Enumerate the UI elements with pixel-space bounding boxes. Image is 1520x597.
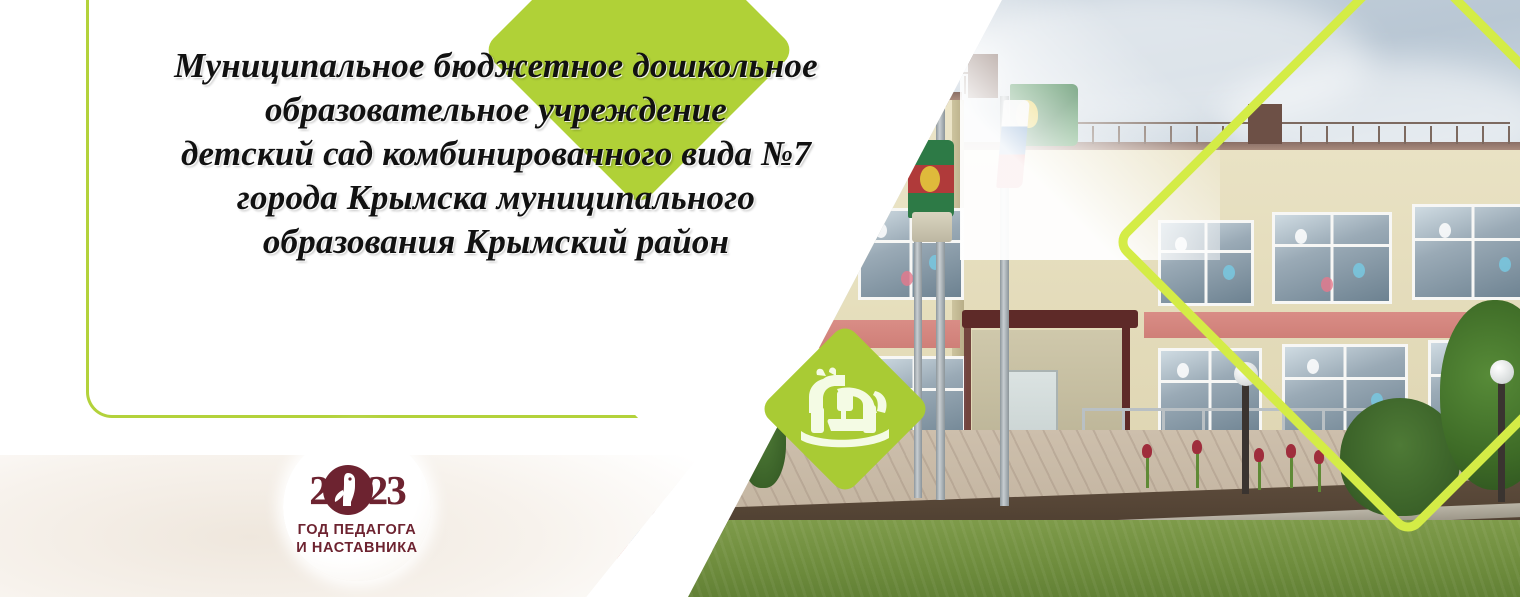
photo-edge-fade (960, 0, 1220, 260)
lamp-post (1242, 382, 1249, 494)
lawn (600, 520, 1520, 597)
kindergarten-banner: Муниципальное бюджетное дошкольное образ… (0, 0, 1520, 597)
tulip (1142, 444, 1152, 458)
window (1272, 212, 1392, 304)
porch-canopy (962, 310, 1138, 328)
pelican-glyph (331, 470, 365, 510)
title-line-2: образовательное учреждение (86, 88, 906, 132)
tulip (1314, 450, 1324, 464)
lamp-post-2 (1498, 382, 1505, 502)
lamp-globe (1234, 362, 1258, 386)
title-line-5: образования Крымский район (86, 220, 906, 264)
tulip (1286, 444, 1296, 458)
title-line-3: детский сад комбинированного вида №7 (86, 132, 906, 176)
krasnodar-krai-flag (908, 140, 954, 218)
institution-title: Муниципальное бюджетное дошкольное образ… (86, 44, 906, 264)
title-line-4: города Крымска муниципального (86, 176, 906, 220)
ac-unit (912, 212, 952, 242)
window (1412, 204, 1520, 300)
tulip (1192, 440, 1202, 454)
tulip (1254, 448, 1264, 462)
logo-line-1: ГОД ПЕДАГОГА (296, 522, 417, 539)
year-of-teacher-logo: 2 23 ГОД ПЕДАГОГА И НАСТАВНИКА (283, 433, 431, 581)
lamp-globe-2 (1490, 360, 1514, 384)
logo-line-2: И НАСТАВНИКА (296, 540, 417, 557)
chimney (1248, 104, 1282, 144)
title-line-1: Муниципальное бюджетное дошкольное (86, 44, 906, 88)
flagpole-center (936, 70, 945, 500)
logo-year-23: 23 (368, 470, 405, 511)
rocking-horse-icon (793, 361, 897, 457)
pelican-icon (323, 465, 373, 515)
